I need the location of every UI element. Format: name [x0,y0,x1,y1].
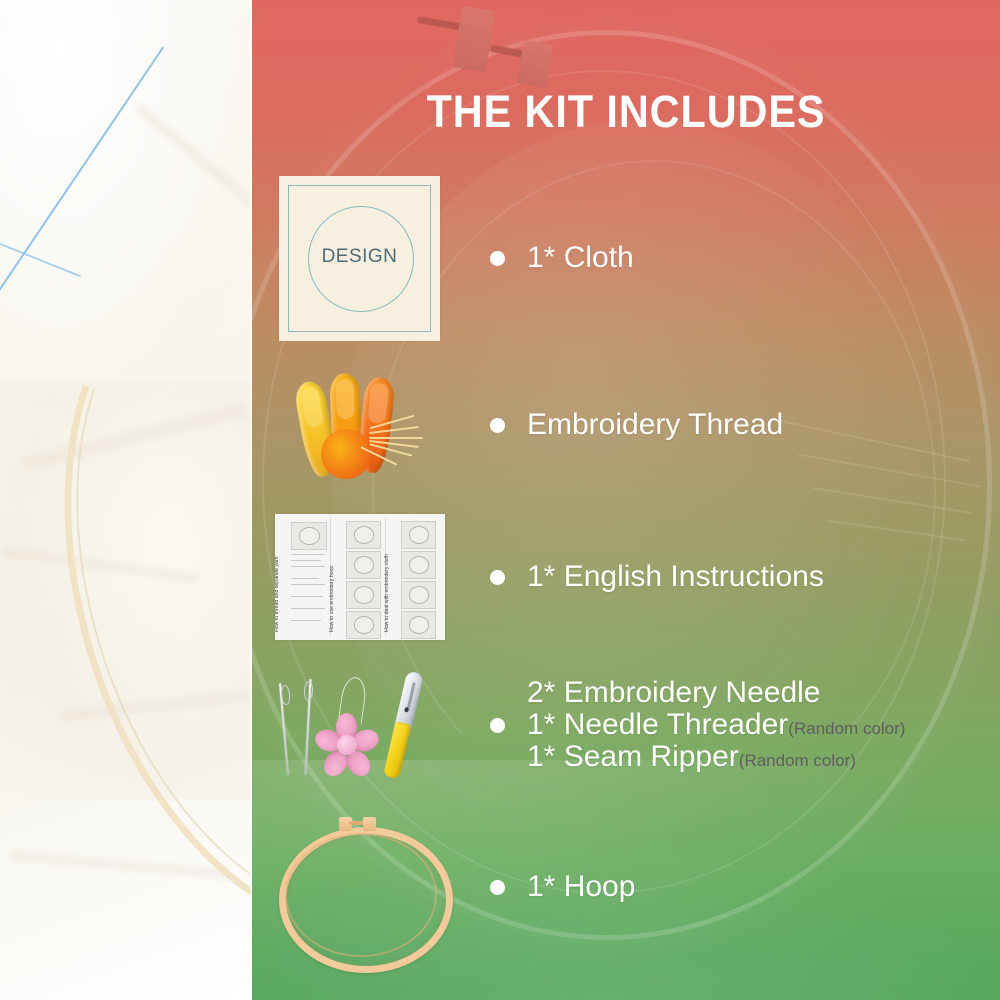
instruction-column-title: How to use embroidery hoop [329,566,335,632]
tools-group [267,669,452,781]
instructions-label: 1* English Instructions [527,560,824,593]
cloth-label: 1* Cloth [527,241,634,274]
instruction-column: How to use embroidery hoop [332,518,386,636]
bullet-dot-icon [490,418,505,433]
needles-threader-seam-ripper-thumbnail [252,669,467,781]
bullet-tools [467,718,527,733]
bullet-hoop [467,880,527,895]
product-kit-infographic: THE KIT INCLUDES DESIGN 1* Cloth [0,0,1000,1000]
cloth-swatch-thumbnail: DESIGN [252,176,467,341]
ripper-note: (Random color) [739,751,856,770]
instruction-column: How to deal with embroidery cloth [387,518,440,636]
seam-ripper-icon [381,670,426,780]
kit-item-cloth: DESIGN 1* Cloth [252,175,1000,341]
english-instruction-sheet-thumbnail: How to thread and separate yarn How to u… [252,514,467,640]
threader-note: (Random color) [788,719,905,738]
hoop-graphic [271,813,449,961]
thread-loose-tails [369,415,427,471]
fabric-fold [10,850,230,879]
page-title: THE KIT INCLUDES [282,86,970,138]
tools-labels: 2* Embroidery Needle 1* Needle Threader(… [527,678,1000,772]
ripper-label: 1* Seam Ripper [527,740,739,773]
kit-item-instructions: How to thread and separate yarn How to u… [252,512,1000,642]
hoop-tightening-screw [339,815,379,831]
hoop-inner-ring [285,833,437,957]
instruction-column-title: How to thread and separate yarn [275,556,280,632]
threader-label: 1* Needle Threader [527,708,788,741]
thread-labels: Embroidery Thread [527,410,1000,440]
left-product-photo [0,0,252,1000]
hoop-label: 1* Hoop [527,870,635,903]
bullet-dot-icon [490,718,505,733]
kit-item-thread: Embroidery Thread [252,365,1000,485]
bullet-dot-icon [490,251,505,266]
bullet-dot-icon [490,880,505,895]
thread-label: Embroidery Thread [527,408,783,441]
bullet-thread [467,418,527,433]
needle-label: 2* Embroidery Needle [527,676,820,709]
embroidery-thread-skeins-thumbnail [252,367,467,483]
seam-ripper-handle [383,721,411,779]
design-cloth-swatch: DESIGN [279,176,440,341]
bullet-cloth [467,251,527,266]
hoop-labels: 1* Hoop [527,872,1000,902]
instruction-column-title: How to deal with embroidery cloth [384,554,390,632]
instruction-sheet: How to thread and separate yarn How to u… [275,514,445,640]
needle-eye-icon [303,681,313,701]
cloth-labels: 1* Cloth [527,243,1000,273]
instructions-labels: 1* English Instructions [527,562,1000,592]
kit-item-hoop: 1* Hoop [252,812,1000,962]
instruction-column: How to thread and separate yarn [277,518,331,636]
kit-item-tools: 2* Embroidery Needle 1* Needle Threader(… [252,665,1000,785]
swatch-design-label: DESIGN [279,246,440,268]
thread-skeins-group [295,367,425,483]
embroidery-hoop-thumbnail [252,813,467,961]
bullet-instructions [467,570,527,585]
bullet-dot-icon [490,570,505,585]
flower-needle-threader-icon [319,717,375,773]
